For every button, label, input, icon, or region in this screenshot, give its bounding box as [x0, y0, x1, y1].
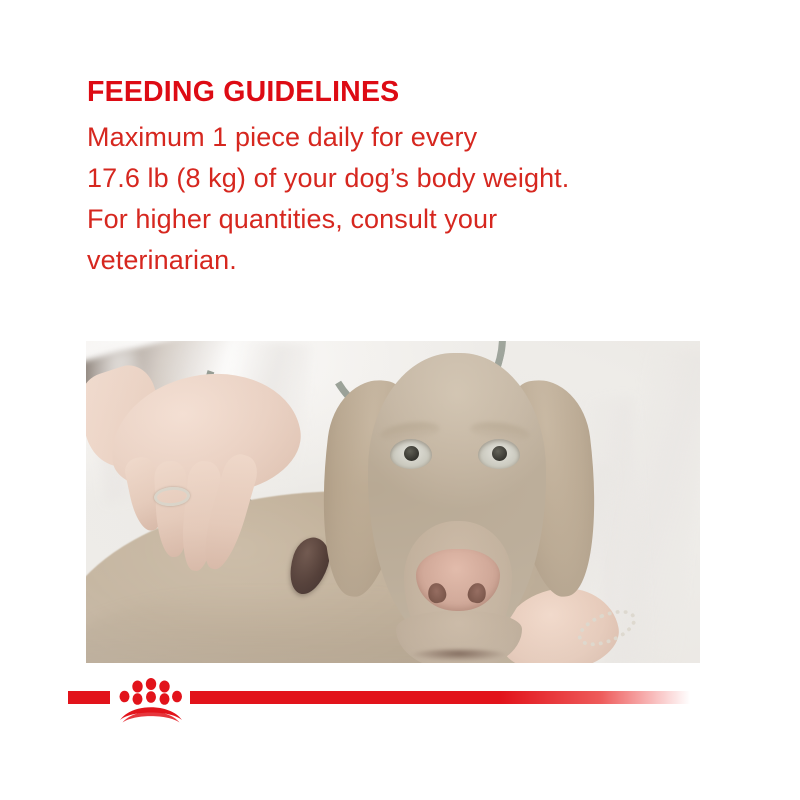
dog-eye-right [478, 439, 520, 469]
footer-bar-left [68, 691, 110, 704]
guideline-line: veterinarian. [87, 240, 727, 281]
veterinarian-hand [92, 369, 342, 569]
guideline-line: For higher quantities, consult your [87, 199, 727, 240]
brand-footer [0, 678, 800, 718]
nostril [426, 581, 448, 604]
dog-eye-left [390, 439, 432, 469]
photo-content [86, 341, 700, 663]
page-title: FEEDING GUIDELINES [87, 78, 727, 108]
royal-canin-crown-logo [114, 670, 188, 726]
product-info-panel: FEEDING GUIDELINES Maximum 1 piece daily… [0, 0, 800, 800]
feeding-guidelines-text: Maximum 1 piece daily for every 17.6 lb … [87, 117, 727, 281]
feeding-guidelines-section: FEEDING GUIDELINES Maximum 1 piece daily… [87, 78, 727, 281]
guideline-line: 17.6 lb (8 kg) of your dog’s body weight… [87, 158, 727, 199]
dog-head [338, 353, 576, 663]
pupil [492, 446, 507, 461]
nostril [466, 581, 488, 604]
pupil [404, 446, 419, 461]
guideline-line: Maximum 1 piece daily for every [87, 117, 727, 158]
footer-bar-right [190, 691, 690, 704]
dog-mouth [412, 649, 506, 661]
veterinary-photo [86, 341, 700, 663]
